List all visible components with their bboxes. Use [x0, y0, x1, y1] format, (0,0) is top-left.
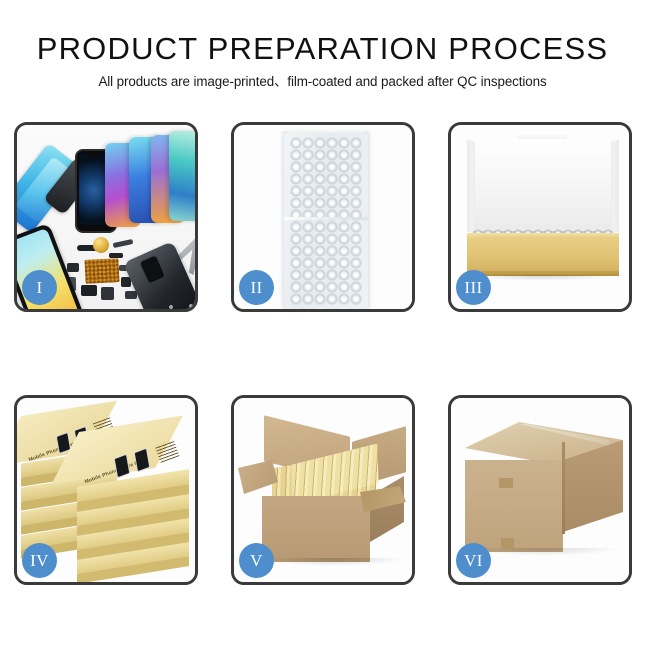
carton-front-panel: [465, 460, 563, 552]
pouch-seam: [284, 217, 368, 220]
step-badge-2: II: [239, 270, 274, 305]
step-panel-1: I: [14, 122, 198, 312]
bubble-pattern-shadow: [290, 137, 362, 305]
small-part: [101, 287, 114, 300]
carton-shadow: [264, 558, 404, 566]
gold-chip-part: [93, 237, 109, 253]
carton-corner-seam: [562, 442, 565, 534]
step-panel-4: Mobile Phone Spare Parts Mobile Phone Sp…: [14, 395, 198, 585]
step-panel-5: V: [231, 395, 415, 585]
page-title: PRODUCT PREPARATION PROCESS: [0, 33, 645, 64]
box-shadow: [471, 275, 615, 281]
small-part: [109, 253, 123, 258]
step-badge-6: VI: [456, 543, 491, 578]
step-badge-3: III: [456, 270, 491, 305]
step-badge-5: V: [239, 543, 274, 578]
step-badge-1: I: [22, 270, 57, 305]
process-steps-grid: I II: [14, 122, 632, 585]
logic-board-part: [84, 258, 119, 284]
small-part: [81, 285, 97, 296]
step-panel-3: III: [448, 122, 632, 312]
small-part: [67, 263, 79, 272]
kraft-box-base: [467, 237, 619, 275]
gradient-phone-teal: [169, 131, 195, 221]
white-box-lid: [475, 139, 611, 239]
product-preparation-infographic: PRODUCT PREPARATION PROCESS All products…: [0, 0, 645, 645]
screws-part: [167, 303, 195, 309]
page-subtitle: All products are image-printed、film-coat…: [0, 75, 645, 88]
step-badge-4: IV: [22, 543, 57, 578]
header: PRODUCT PREPARATION PROCESS All products…: [0, 0, 645, 88]
carton-front-panel: [262, 496, 370, 562]
carton-flap-tab-bottom: [501, 538, 514, 548]
carton-flap-tab-top: [499, 478, 513, 488]
step-panel-2: II: [231, 122, 415, 312]
step-panel-6: VI: [448, 395, 632, 585]
phone-notch: [87, 153, 101, 157]
